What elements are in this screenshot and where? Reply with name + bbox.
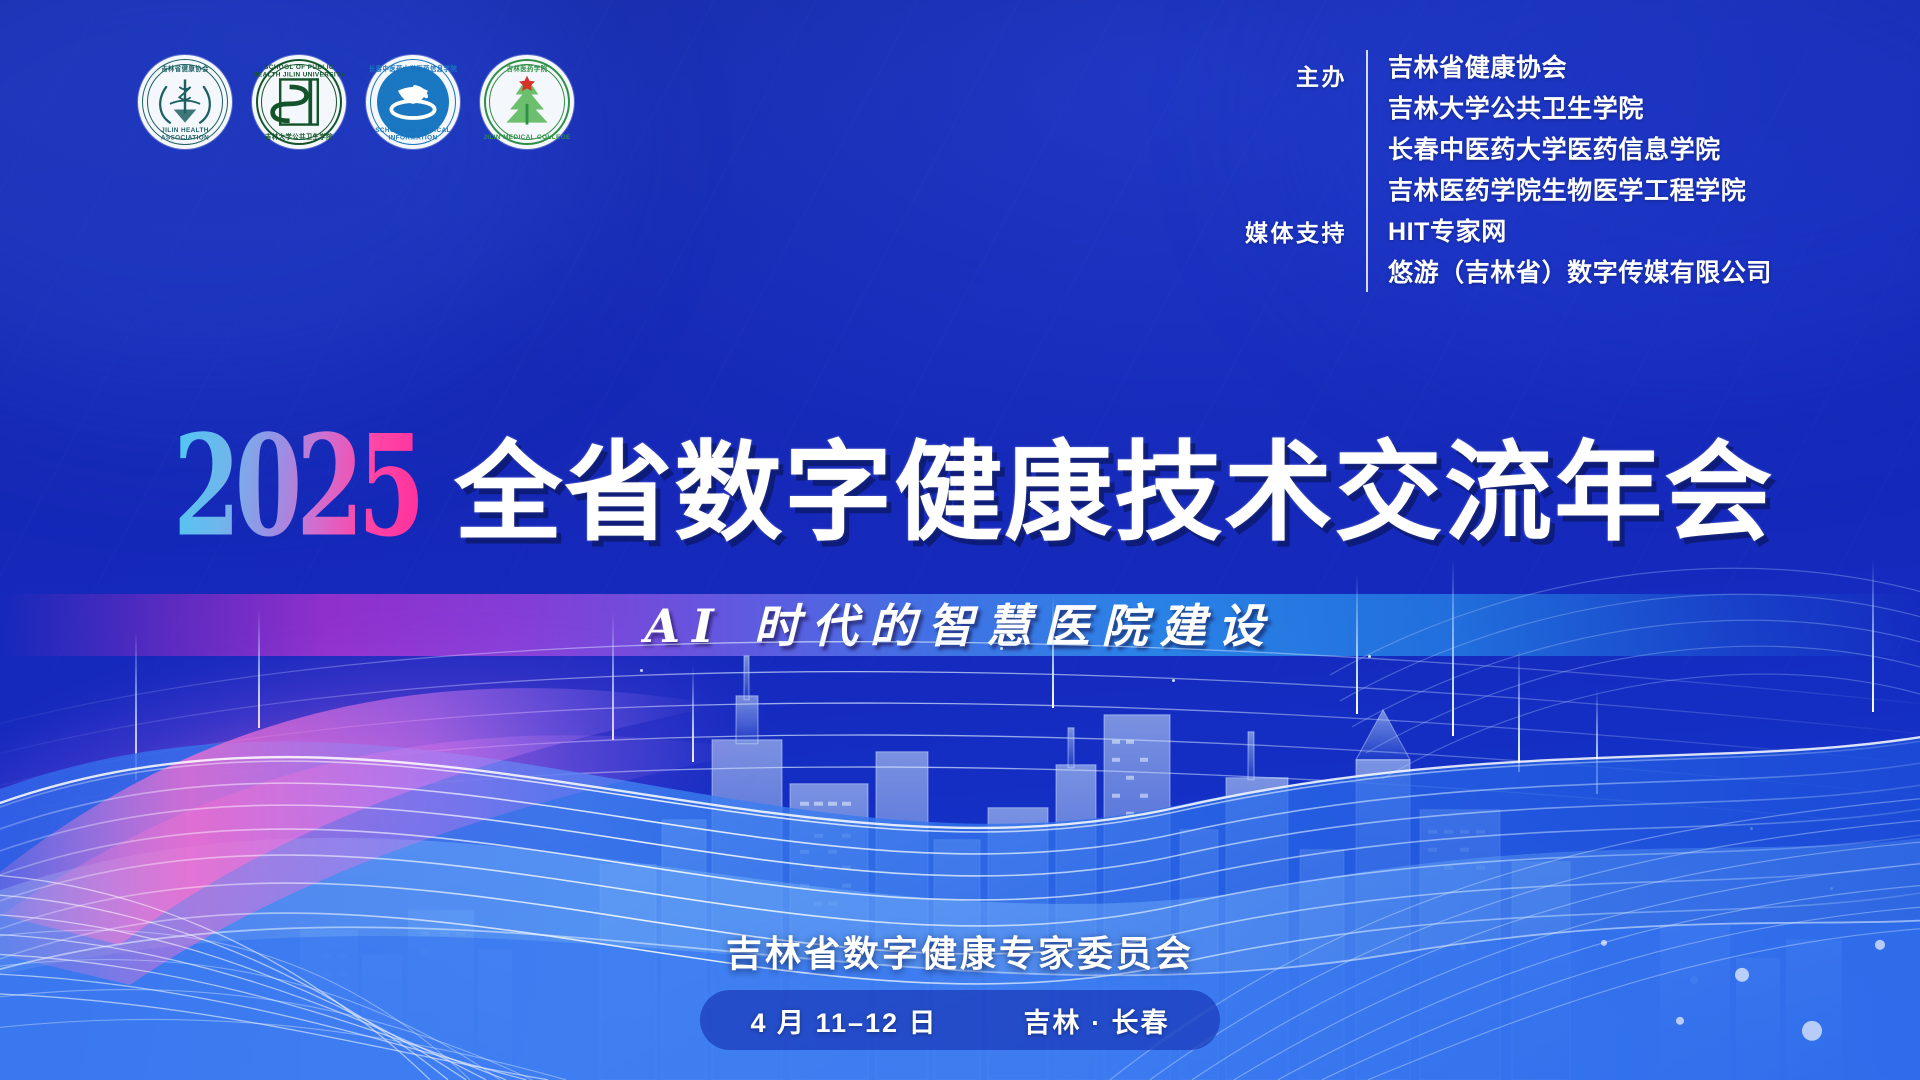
host-name: 吉林省健康协会 — [1388, 50, 1772, 87]
logo-jilin-health-association: 吉林省健康协会 JILIN HEALTH ASSOCIATION — [138, 55, 232, 149]
light-particle — [1830, 887, 1833, 890]
organizer-name: 吉林省数字健康专家委员会 — [0, 925, 1920, 977]
light-particle — [1172, 679, 1175, 682]
pine-star-emblem-icon — [480, 55, 574, 149]
light-beam — [1518, 648, 1520, 772]
light-particle — [1750, 827, 1753, 830]
light-particle — [640, 669, 643, 672]
public-health-emblem-icon — [252, 55, 346, 149]
media-name: 悠游（吉林省）数字传媒有限公司 — [1388, 255, 1772, 292]
caduceus-wreath-icon — [138, 55, 232, 149]
sponsor-label-column: 主办 媒体支持 — [1245, 50, 1366, 292]
sponsor-credits: 主办 媒体支持 吉林省健康协会 吉林大学公共卫生学院 长春中医药大学医药信息学院… — [1245, 50, 1772, 292]
year-2025: 2025 — [173, 422, 421, 550]
media-support-label: 媒体支持 — [1245, 214, 1347, 248]
logo-arc-bottom: SCHOOL OF MEDICAL INFORMATION — [366, 127, 460, 142]
title-block: 2025 全省数字健康技术交流年会 — [0, 438, 1920, 547]
host-label: 主办 — [1245, 58, 1347, 92]
subtitle: AI 时代的智慧医院建设 — [0, 590, 1920, 656]
logo-arc-top: 长春中医药大学医药信息学院 — [366, 64, 460, 73]
media-name: HIT专家网 — [1388, 214, 1772, 251]
event-location: 吉林 · 长春 — [1024, 1001, 1170, 1040]
logo-jilin-medical-college: 吉林医药学院 JILIN MEDICAL COLLEGE — [480, 55, 574, 149]
sponsor-name-column: 吉林省健康协会 吉林大学公共卫生学院 长春中医药大学医药信息学院 吉林医药学院生… — [1368, 50, 1772, 292]
logo-jilin-university-public-health: SCHOOL OF PUBLIC HEALTH JILIN UNIVERSITY… — [252, 55, 346, 149]
host-name: 长春中医药大学医药信息学院 — [1388, 132, 1772, 169]
logo-school-of-medical-information: 长春中医药大学医药信息学院 SCHOOL OF MEDICAL INFORMAT… — [366, 55, 460, 149]
light-beam — [1596, 688, 1598, 794]
host-name: 吉林大学公共卫生学院 — [1388, 91, 1772, 128]
host-name: 吉林医药学院生物医学工程学院 — [1388, 173, 1772, 210]
sponsor-logo-row: 吉林省健康协会 JILIN HEALTH ASSOCIATION SCHOOL … — [138, 55, 574, 149]
page-title: 全省数字健康技术交流年会 — [454, 439, 1774, 547]
conference-banner: 吉林省健康协会 JILIN HEALTH ASSOCIATION SCHOOL … — [0, 0, 1920, 1080]
light-particle — [1690, 976, 1698, 984]
light-beam — [692, 666, 694, 762]
event-date: 4 月 11–12 日 — [750, 1001, 937, 1040]
event-details-pill: 4 月 11–12 日 吉林 · 长春 — [700, 990, 1220, 1050]
